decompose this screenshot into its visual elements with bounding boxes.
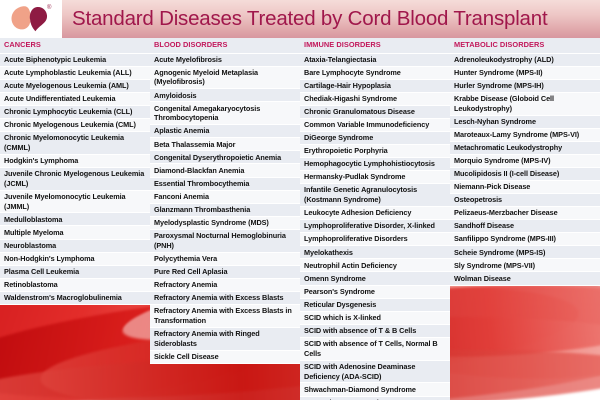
disease-row: Chronic Lymphocytic Leukemia (CLL) [0,106,150,119]
poster-header: ® Standard Diseases Treated by Cord Bloo… [0,0,600,38]
registered-trademark-symbol: ® [47,5,51,11]
disease-row: SCID with Adenosine Deaminase Deficiency… [300,361,450,384]
disease-row: Reticular Dysgenesis [300,299,450,312]
disease-row: Lesch-Nyhan Syndrome [450,116,600,129]
disease-row: Common Variable Immunodeficiency [300,119,450,132]
disease-row: Glanzmann Thrombasthenia [150,204,300,217]
disease-row: Juvenile Myelomonocytic Leukemia (JMML) [0,191,150,214]
disease-row: Chronic Myelomonocytic Leukemia (CMML) [0,132,150,155]
column-metabolic-disorders: METABOLIC DISORDERS Adrenoleukodystrophy… [450,38,600,400]
disease-row: Ataxia-Telangiectasia [300,54,450,67]
disease-row: Congenital Amegakaryocytosis Thrombocyto… [150,102,300,125]
disease-row: Omenn Syndrome [300,272,450,285]
disease-row: Infantile Genetic Agranulocytosis (Kostm… [300,184,450,207]
disease-row: Aplastic Anemia [150,125,300,138]
disease-row: Retinoblastoma [0,279,150,292]
disease-row: Non-Hodgkin's Lymphoma [0,253,150,266]
disease-row: Lymphoproliferative Disorders [300,233,450,246]
disease-row: Sickle Cell Disease [150,351,300,364]
disease-row: SCID with absence of T & B Cells [300,325,450,338]
disease-columns: CANCERS Acute Biphenotypic LeukemiaAcute… [0,38,600,400]
disease-row: Medulloblastoma [0,213,150,226]
disease-row: Systemic Mastocytosis [300,397,450,400]
column-header-immune-disorders: IMMUNE DISORDERS [300,38,450,54]
disease-row: Acute Undifferentiated Leukemia [0,93,150,106]
disease-row: Multiple Myeloma [0,226,150,239]
disease-row: Leukocyte Adhesion Deficiency [300,207,450,220]
disease-row: Acute Lymphoblastic Leukemia (ALL) [0,67,150,80]
disease-row: Paroxysmal Nocturnal Hemoglobinuria (PNH… [150,230,300,253]
disease-row: Sly Syndrome (MPS-VII) [450,259,600,272]
disease-row: Acute Biphenotypic Leukemia [0,54,150,67]
disease-row: Niemann-Pick Disease [450,181,600,194]
disease-row: Polycythemia Vera [150,253,300,266]
disease-row: Juvenile Chronic Myelogenous Leukemia (J… [0,168,150,191]
disease-row: Hermansky-Pudlak Syndrome [300,171,450,184]
disease-list-cancers: Acute Biphenotypic LeukemiaAcute Lymphob… [0,54,150,305]
disease-row: Morquio Syndrome (MPS-IV) [450,155,600,168]
disease-row: Neuroblastoma [0,240,150,253]
disease-list-metabolic-disorders: Adrenoleukodystrophy (ALD)Hunter Syndrom… [450,54,600,286]
disease-row: Hodgkin's Lymphoma [0,155,150,168]
disease-row: SCID with absence of T Cells, Normal B C… [300,338,450,361]
disease-row: Maroteaux-Lamy Syndrome (MPS-VI) [450,129,600,142]
disease-row: Erythropoietic Porphyria [300,145,450,158]
disease-row: Wolman Disease [450,272,600,285]
disease-row: Myelodysplastic Syndrome (MDS) [150,217,300,230]
disease-row: Hunter Syndrome (MPS-II) [450,67,600,80]
disease-row: Amyloidosis [150,89,300,102]
logo-container: ® [0,0,62,38]
disease-row: Bare Lymphocyte Syndrome [300,67,450,80]
disease-row: Fanconi Anemia [150,191,300,204]
disease-row: SCID which is X-linked [300,312,450,325]
disease-row: Refractory Anemia with Excess Blasts [150,292,300,305]
disease-row: Myelokathexis [300,246,450,259]
disease-row: Krabbe Disease (Globoid Cell Leukodystro… [450,93,600,116]
disease-row: Hurler Syndrome (MPS-IH) [450,80,600,93]
disease-row: Refractory Anemia with Excess Blasts in … [150,305,300,328]
column-header-metabolic-disorders: METABOLIC DISORDERS [450,38,600,54]
disease-row: Metachromatic Leukodystrophy [450,142,600,155]
title-band: Standard Diseases Treated by Cord Blood … [62,0,600,38]
disease-row: Agnogenic Myeloid Metaplasia (Myelofibro… [150,67,300,90]
column-cancers: CANCERS Acute Biphenotypic LeukemiaAcute… [0,38,150,400]
disease-row: Scheie Syndrome (MPS-IS) [450,246,600,259]
disease-row: Neutrophil Actin Deficiency [300,259,450,272]
disease-list-blood-disorders: Acute MyelofibrosisAgnogenic Myeloid Met… [150,54,300,364]
page-title: Standard Diseases Treated by Cord Blood … [72,7,547,31]
disease-row: Refractory Anemia with Ringed Sideroblas… [150,328,300,351]
disease-row: Chediak-Higashi Syndrome [300,93,450,106]
disease-row: Sandhoff Disease [450,220,600,233]
disease-row: Chronic Granulomatous Disease [300,106,450,119]
disease-row: Osteopetrosis [450,194,600,207]
disease-row: Refractory Anemia [150,279,300,292]
disease-row: Adrenoleukodystrophy (ALD) [450,54,600,67]
disease-row: Beta Thalassemia Major [150,138,300,151]
disease-row: Congenital Dyserythropoietic Anemia [150,151,300,164]
column-immune-disorders: IMMUNE DISORDERS Ataxia-TelangiectasiaBa… [300,38,450,400]
poster-root: ® Standard Diseases Treated by Cord Bloo… [0,0,600,400]
disease-row: Cartilage-Hair Hypoplasia [300,80,450,93]
disease-row: Chronic Myelogenous Leukemia (CML) [0,119,150,132]
disease-row: Lymphoproliferative Disorder, X-linked [300,220,450,233]
disease-row: Pearson's Syndrome [300,286,450,299]
column-blood-disorders: BLOOD DISORDERS Acute MyelofibrosisAgnog… [150,38,300,400]
disease-row: Plasma Cell Leukemia [0,266,150,279]
disease-list-immune-disorders: Ataxia-TelangiectasiaBare Lymphocyte Syn… [300,54,450,400]
disease-row: Pure Red Cell Aplasia [150,266,300,279]
column-header-blood-disorders: BLOOD DISORDERS [150,38,300,54]
disease-row: Pelizaeus-Merzbacher Disease [450,207,600,220]
disease-row: Diamond-Blackfan Anemia [150,164,300,177]
disease-row: Mucolipidosis II (I-cell Disease) [450,168,600,181]
disease-row: Acute Myelogenous Leukemia (AML) [0,80,150,93]
disease-row: Hemophagocytic Lymphohistiocytosis [300,158,450,171]
disease-row: DiGeorge Syndrome [300,132,450,145]
disease-row: Waldenstrom's Macroglobulinemia [0,292,150,305]
disease-row: Shwachman-Diamond Syndrome [300,383,450,396]
disease-row: Essential Thrombocythemia [150,178,300,191]
column-header-cancers: CANCERS [0,38,150,54]
disease-row: Acute Myelofibrosis [150,54,300,67]
disease-row: Sanfilippo Syndrome (MPS-III) [450,233,600,246]
